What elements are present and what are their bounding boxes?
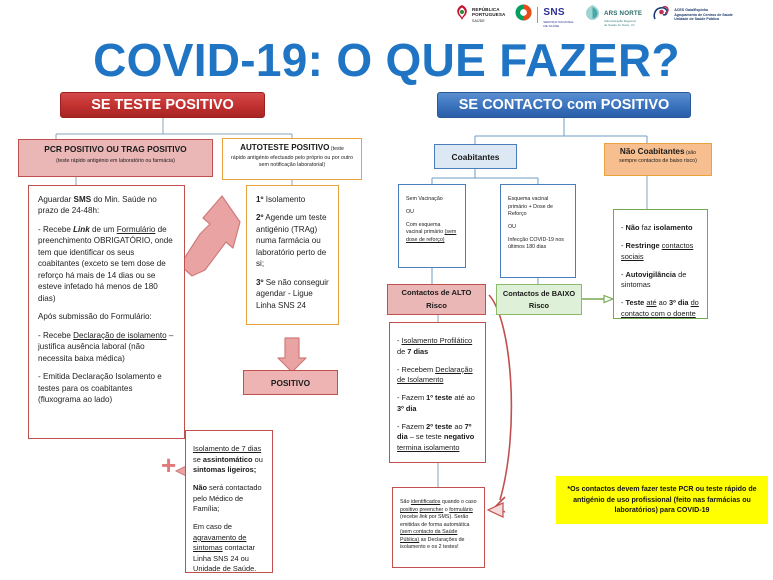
logo-bar: REPÚBLICA PORTUGUESA SAÚDE SNS SERVIÇO N… <box>455 2 773 28</box>
page-title: COVID-19: O QUE FAZER? <box>0 33 773 87</box>
logo-ars-norte: ARS NORTE Administração Regional de Saúd… <box>584 2 642 28</box>
isolamento-7-dias-text: Isolamento de 7 dias se assintomático ou… <box>193 444 265 574</box>
nao-coabitantes-title: Não Coabitantes (são <box>609 147 707 157</box>
autoteste-positivo-title: AUTOTESTE POSITIVO (teste <box>228 143 356 153</box>
sem-vacinacao-text: Sem VacinaçãoOUCom esquema vacinal primá… <box>406 196 458 244</box>
yellow-footnote-text: *Os contactos devem fazer teste PCR ou t… <box>565 484 759 517</box>
contactos-baixo-risco-header: Contactos de BAIXO Risco <box>496 284 582 315</box>
autoteste-positivo-body: 1º Isolamento2º Agende um teste antigéni… <box>246 185 339 325</box>
aces-label: ACES Gaia/Espinho Agrupamento de Centros… <box>674 8 733 22</box>
republica-portuguesa-icon <box>455 4 469 27</box>
sns-icon <box>515 4 532 26</box>
banner-se-teste-positivo: SE TESTE POSITIVO <box>60 92 265 118</box>
autoteste-positivo-body-text: 1º Isolamento2º Agende um teste antigéni… <box>256 194 329 311</box>
esquema-vacinal-text: Esquema vacinal primário + Dose de Refor… <box>508 196 568 252</box>
autoteste-positivo-subtitle: rápido antigénio efectuado pelo próprio … <box>228 155 356 169</box>
esquema-vacinal-box: Esquema vacinal primário + Dose de Refor… <box>500 184 576 278</box>
autoteste-positivo-header: AUTOTESTE POSITIVO (teste rápido antigén… <box>222 138 362 180</box>
plus-sign: + <box>161 452 176 478</box>
nao-coabitantes-header: Não Coabitantes (são sempre contactos de… <box>604 143 712 176</box>
aces-icon <box>652 4 671 27</box>
republica-portuguesa-label: REPÚBLICA PORTUGUESA SAÚDE <box>472 7 505 24</box>
pcr-positivo-header: PCR POSITIVO OU TRAG POSITIVO (teste ráp… <box>18 139 213 177</box>
baixo-risco-steps-box: - Não faz isolamento- Restringe contacto… <box>613 209 708 319</box>
yellow-footnote: *Os contactos devem fazer teste PCR ou t… <box>556 476 768 524</box>
ars-norte-label: ARS NORTE Administração Regional de Saúd… <box>604 2 642 28</box>
flowchart-page: REPÚBLICA PORTUGUESA SAÚDE SNS SERVIÇO N… <box>0 0 773 580</box>
autoteste-resultado-positivo: POSITIVO <box>243 370 338 395</box>
contactos-alto-risco-header: Contactos de ALTO Risco <box>387 284 486 315</box>
sns-divider <box>537 7 538 23</box>
identificacao-note-text: São identificados quando o caso positivo… <box>400 499 477 552</box>
logo-republica-portuguesa: REPÚBLICA PORTUGUESA SAÚDE <box>455 4 505 27</box>
alto-risco-steps-box: - Isolamento Profilático de 7 dias- Rece… <box>389 322 486 463</box>
alto-risco-steps-text: - Isolamento Profilático de 7 dias- Rece… <box>397 336 478 453</box>
banner-se-contacto-com-positivo: SE CONTACTO com POSITIVO <box>437 92 691 118</box>
pcr-positivo-subtitle: (teste rápido antigénio em laboratório o… <box>24 158 207 165</box>
nao-coabitantes-subtitle: sempre contactos de baixo risco) <box>609 158 707 165</box>
ars-norte-icon <box>584 4 601 26</box>
baixo-risco-steps-text: - Não faz isolamento- Restringe contacto… <box>621 223 700 319</box>
pcr-positivo-body-text: Aguardar SMS do Min. Saúde no prazo de 2… <box>38 194 175 406</box>
pcr-positivo-body: Aguardar SMS do Min. Saúde no prazo de 2… <box>28 185 185 439</box>
sns-label: SNS SERVIÇO NACIONAL DE SAÚDE <box>543 2 574 29</box>
isolamento-7-dias-note: Isolamento de 7 dias se assintomático ou… <box>185 430 273 573</box>
pcr-positivo-title: PCR POSITIVO OU TRAG POSITIVO <box>24 144 207 154</box>
sem-vacinacao-box: Sem VacinaçãoOUCom esquema vacinal primá… <box>398 184 466 268</box>
logo-aces: ACES Gaia/Espinho Agrupamento de Centros… <box>652 4 733 27</box>
identificacao-note-box: São identificados quando o caso positivo… <box>392 487 485 568</box>
logo-sns: SNS SERVIÇO NACIONAL DE SAÚDE <box>515 2 574 29</box>
coabitantes-header: Coabitantes <box>434 144 517 169</box>
